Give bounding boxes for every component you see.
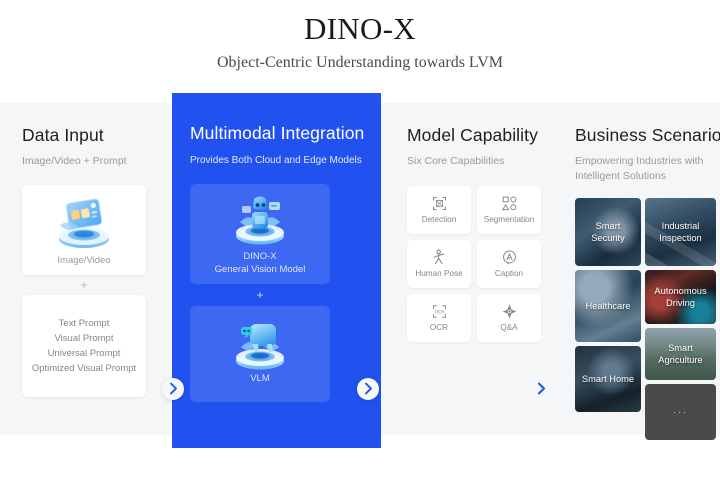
chevron-right-icon (169, 382, 178, 395)
business-scenario-grid: Smart Security Industrial Inspection Hea… (575, 198, 716, 394)
panel-multimodal-subtitle: Provides Both Cloud and Edge Models (190, 154, 365, 169)
prompt-line: Visual Prompt (55, 333, 114, 344)
card-image-video-caption: Image/Video (57, 255, 110, 266)
card-prompt-types[interactable]: Text Prompt Visual Prompt Universal Prom… (22, 295, 146, 397)
scenario-tile-smart-home[interactable]: Smart Home (575, 346, 641, 412)
panel-business-scenarios: Business Scenarios Empowering Industries… (553, 103, 720, 435)
scenario-tile-label: ··· (670, 406, 691, 418)
card-dino-x-caption: DINO-X General Vision Model (215, 251, 306, 277)
robot-3d-icon (227, 189, 293, 251)
diamond-burst-icon (501, 303, 518, 320)
creature-3d-icon (227, 311, 293, 373)
scenario-tile-label: Healthcare (583, 300, 634, 312)
panel-multimodal-title: Multimodal Integration (190, 123, 365, 144)
flow-diagram: Data Input Image/Video + Prompt (0, 93, 720, 448)
capability-tile-detection[interactable]: Detection (407, 186, 471, 234)
capability-tile-label: Caption (495, 269, 523, 278)
capability-tile-caption[interactable]: Caption (477, 240, 541, 288)
panel-model-capability-title: Model Capability (407, 125, 537, 146)
scenario-tile-autonomous-driving[interactable]: Autonomous Driving (645, 270, 716, 324)
prompt-line: Text Prompt (59, 318, 110, 329)
data-input-plus: + (22, 275, 146, 295)
scenario-tile-healthcare[interactable]: Healthcare (575, 270, 641, 342)
capability-tile-qa[interactable]: Q&A (477, 294, 541, 342)
panel-business-subtitle-line1: Empowering Industries with (575, 154, 704, 169)
arrow-capability-to-business[interactable] (530, 378, 552, 400)
scenario-tile-label: Autonomous Driving (645, 285, 716, 309)
scenario-tile-label: Smart Security (575, 220, 641, 244)
page-title: DINO-X (0, 10, 720, 49)
stick-figure-icon (431, 249, 448, 266)
scenario-tile-smart-agriculture[interactable]: Smart Agriculture (645, 328, 716, 380)
prompt-line: Optimized Visual Prompt (32, 363, 136, 374)
card-vlm[interactable]: VLM (190, 306, 330, 402)
chevron-right-icon (537, 382, 546, 395)
panel-multimodal-integration: Multimodal Integration Provides Both Clo… (172, 93, 381, 448)
card-dino-x-caption-line2: General Vision Model (215, 264, 306, 277)
page-header: DINO-X Object-Centric Understanding towa… (0, 0, 720, 72)
scenario-tile-label: Smart Home (579, 373, 637, 385)
image-video-3d-icon (51, 191, 117, 253)
capability-tile-human-pose[interactable]: Human Pose (407, 240, 471, 288)
page-subtitle: Object-Centric Understanding towards LVM (0, 54, 720, 72)
svg-text:OCR: OCR (434, 310, 444, 316)
bounding-box-icon (431, 195, 448, 212)
panel-business-subtitle-line2: Intelligent Solutions (575, 169, 704, 184)
scenario-tile-industrial-inspection[interactable]: Industrial Inspection (645, 198, 716, 266)
panel-data-input-title: Data Input (22, 125, 152, 146)
panel-business-scenarios-title: Business Scenarios (575, 125, 704, 146)
shapes-grid-icon (501, 195, 518, 212)
card-image-video[interactable]: Image/Video (22, 185, 146, 275)
capability-tile-label: Human Pose (415, 269, 462, 278)
arrow-data-to-multimodal[interactable] (162, 378, 184, 400)
capability-tile-ocr[interactable]: OCR OCR (407, 294, 471, 342)
ocr-brackets-icon: OCR (431, 303, 448, 320)
chevron-right-icon (364, 382, 373, 395)
card-dino-x[interactable]: DINO-X General Vision Model (190, 184, 330, 284)
scenario-tile-smart-security[interactable]: Smart Security (575, 198, 641, 266)
card-vlm-caption-line1: VLM (250, 373, 270, 386)
arrow-multimodal-to-capability[interactable] (357, 378, 379, 400)
scenario-tile-more[interactable]: ··· (645, 384, 716, 440)
capability-tile-segmentation[interactable]: Segmentation (477, 186, 541, 234)
panel-data-input-subtitle: Image/Video + Prompt (22, 154, 152, 169)
prompt-line: Universal Prompt (48, 348, 121, 359)
scenario-tile-label: Smart Agriculture (645, 342, 716, 366)
scenario-tile-label: Industrial Inspection (645, 220, 716, 244)
card-vlm-caption: VLM (250, 373, 270, 386)
card-dino-x-caption-line1: DINO-X (215, 251, 306, 264)
capability-tile-label: Segmentation (484, 215, 535, 224)
panel-business-scenarios-subtitle: Empowering Industries with Intelligent S… (575, 154, 704, 184)
capability-grid: Detection Segmentation (407, 186, 541, 342)
panel-model-capability-subtitle: Six Core Capabilities (407, 154, 537, 169)
capability-tile-label: Detection (422, 215, 457, 224)
letter-a-circle-icon (501, 249, 518, 266)
panel-model-capability: Model Capability Six Core Capabilities D… (385, 103, 553, 435)
multimodal-plus: + (190, 284, 330, 306)
capability-tile-label: OCR (430, 323, 448, 332)
panel-data-input: Data Input Image/Video + Prompt (0, 103, 168, 435)
capability-tile-label: Q&A (500, 323, 517, 332)
